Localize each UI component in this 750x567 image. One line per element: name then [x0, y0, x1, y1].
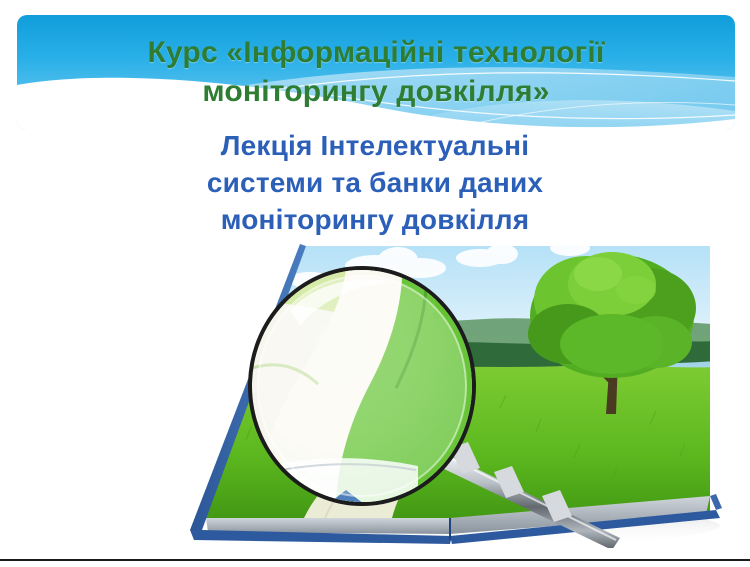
title-banner: Курс «Інформаційні технології моніторинг…: [17, 15, 735, 130]
illustration-svg: [150, 218, 750, 548]
banner-background: [17, 15, 735, 130]
slide: Курс «Інформаційні технології моніторинг…: [0, 0, 750, 567]
lecture-subtitle-line-2: системи та банки даних: [0, 165, 750, 202]
lecture-subtitle-line-3: моніторингу довкілля: [0, 202, 750, 239]
magnifier-gloss: [258, 276, 466, 496]
lecture-subtitle: Лекція Інтелектуальні системи та банки д…: [0, 128, 750, 239]
lecture-subtitle-line-1: Лекція Інтелектуальні: [0, 128, 750, 165]
illustration-open-book-nature: [150, 218, 750, 548]
book-right-cover-edge: [710, 494, 722, 510]
bottom-divider: [0, 559, 750, 561]
